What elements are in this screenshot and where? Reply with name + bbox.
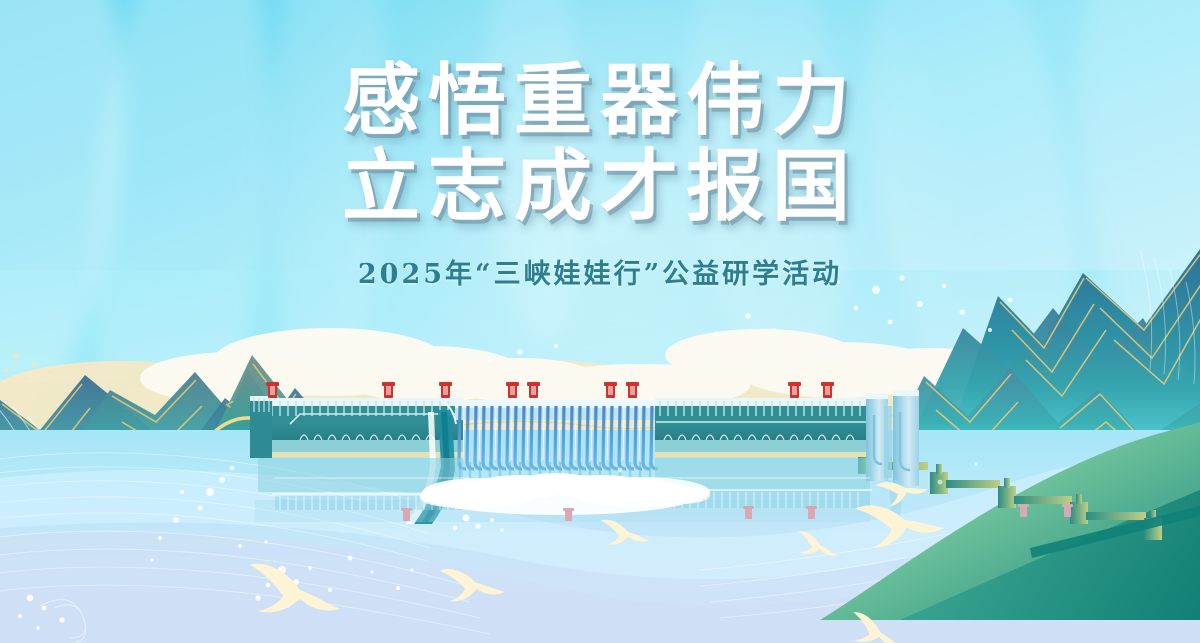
poster-canvas: 感悟重器伟力 立志成才报国 2025年“三峡娃娃行”公益研学活动 [0, 0, 1200, 643]
title-block: 感悟重器伟力 立志成才报国 2025年“三峡娃娃行”公益研学活动 [0, 62, 1200, 291]
subtitle: 2025年“三峡娃娃行”公益研学活动 [0, 252, 1200, 291]
water-bubbles [0, 430, 1200, 643]
dam-crest-cranes [266, 382, 834, 398]
main-title-line-2: 立志成才报国 [0, 148, 1200, 226]
main-title-line-1: 感悟重器伟力 [0, 62, 1200, 140]
